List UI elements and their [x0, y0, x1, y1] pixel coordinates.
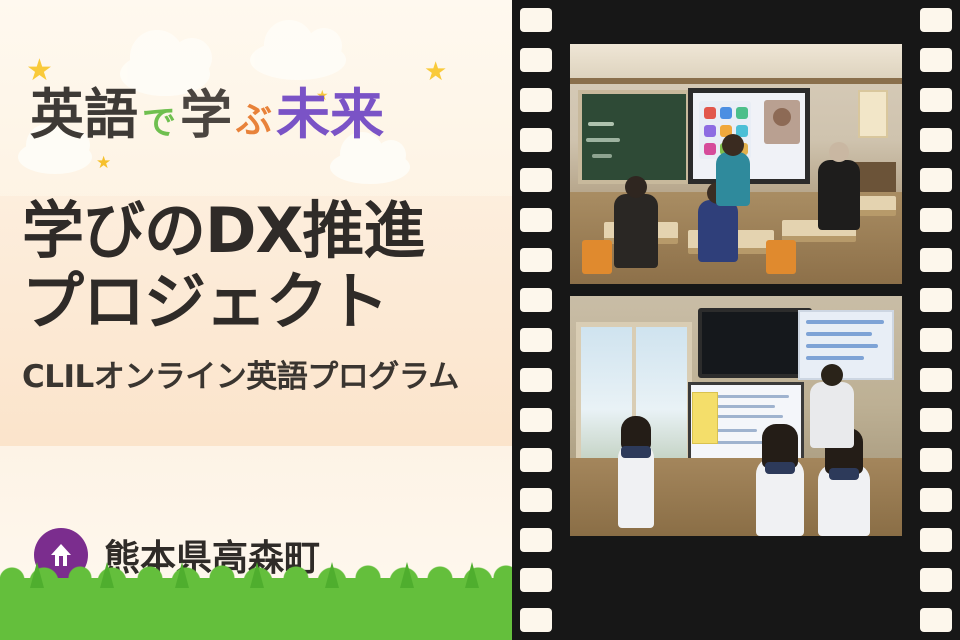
perforation — [520, 608, 552, 632]
grass-decoration — [0, 578, 512, 640]
page-title-line-1: 学びのDX推進 — [22, 196, 500, 267]
perforation — [520, 208, 552, 232]
photo1-ceiling — [570, 44, 902, 80]
perforation — [920, 608, 952, 632]
photo1-student-head — [625, 176, 647, 198]
photo1-student — [698, 200, 738, 262]
grass-blade-icon — [465, 562, 479, 588]
app-icon — [704, 125, 716, 137]
perforation — [920, 168, 952, 192]
perforation — [520, 328, 552, 352]
grass-blade-icon — [175, 562, 189, 588]
kicker-de: で — [142, 106, 176, 140]
perforation — [520, 128, 552, 152]
photo1-chalk-writing — [586, 138, 620, 142]
perforation — [920, 248, 952, 272]
photo1-beam — [570, 78, 902, 84]
photo1-chair — [766, 240, 796, 274]
perforation — [520, 8, 552, 32]
poster-text-line — [806, 332, 872, 336]
perforation — [520, 248, 552, 272]
grass-blade-icon — [400, 562, 414, 588]
perforation — [920, 8, 952, 32]
photo1-student-presenting — [716, 152, 750, 206]
perforation — [520, 368, 552, 392]
page-title-line-2: プロジェクト — [22, 267, 500, 338]
star-icon: ★ — [96, 154, 111, 171]
poster-text-line — [806, 320, 884, 324]
app-icon — [704, 107, 716, 119]
photo1-student — [614, 194, 658, 268]
photo1-wall-poster — [858, 90, 888, 138]
perforation — [920, 328, 952, 352]
photo1-student-head — [722, 134, 744, 156]
perforation — [920, 208, 952, 232]
poster-text-line — [806, 344, 878, 348]
perforation — [920, 408, 952, 432]
photo2-student — [756, 458, 804, 536]
kicker-headline: 英語 で 学 ぶ 未来 — [30, 88, 480, 142]
perforation — [920, 48, 952, 72]
cloud-icon — [250, 40, 346, 80]
perforation — [520, 168, 552, 192]
perforation — [520, 288, 552, 312]
perforation — [920, 528, 952, 552]
perforation — [920, 288, 952, 312]
photo2-student-collar — [765, 462, 795, 474]
poster-text-line — [806, 356, 864, 360]
photo2-wall-poster — [798, 310, 894, 380]
photo-elementary-class-online-english — [570, 44, 902, 284]
app-icon — [720, 107, 732, 119]
cloud-icon — [330, 150, 410, 184]
app-icon — [736, 107, 748, 119]
left-panel-background: ★ ★ ★ ★ 英語 で 学 ぶ 未来 学びのDX推進 プロジェクト CLILオ… — [0, 0, 512, 640]
perforation — [520, 448, 552, 472]
filmstrip-perforations-left — [516, 0, 556, 640]
filmstrip-perforations-right — [916, 0, 956, 640]
poster-canvas: ★ ★ ★ ★ 英語 で 学 ぶ 未来 学びのDX推進 プロジェクト CLILオ… — [0, 0, 960, 640]
photo1-chair — [582, 240, 612, 274]
photo2-yellow-handout — [692, 392, 718, 444]
title-block: 学びのDX推進 プロジェクト CLILオンライン英語プログラム — [22, 196, 500, 396]
app-icon — [704, 143, 716, 155]
kicker-eigo: 英語 — [30, 88, 138, 142]
grass-blade-icon — [325, 562, 339, 588]
photo2-student-collar — [621, 446, 651, 458]
kicker-bu: ぶ — [236, 103, 272, 139]
perforation — [920, 448, 952, 472]
star-icon: ★ — [424, 58, 447, 84]
photo2-teacher — [810, 382, 854, 448]
photo1-chalk-writing — [592, 154, 612, 158]
photo-junior-high-class-online-english — [570, 296, 902, 536]
filmstrip — [512, 0, 960, 640]
kicker-mana: 学 — [180, 90, 232, 142]
perforation — [920, 488, 952, 512]
perforation — [520, 568, 552, 592]
perforation — [920, 128, 952, 152]
photo2-student-head — [621, 416, 651, 450]
photo1-chalk-writing — [588, 122, 614, 126]
grass-blade-icon — [30, 562, 44, 588]
photo2-teacher-head — [821, 364, 843, 386]
kicker-mirai: 未来 — [276, 88, 384, 142]
grass-blade-icon — [100, 562, 114, 588]
perforation — [520, 48, 552, 72]
photo1-teacher-head — [829, 142, 849, 162]
perforation — [520, 408, 552, 432]
perforation — [920, 88, 952, 112]
photo2-student-collar — [829, 468, 859, 480]
photo1-remote-teacher-video — [764, 100, 800, 144]
photo1-teacher — [818, 160, 860, 230]
perforation — [920, 568, 952, 592]
perforation — [520, 88, 552, 112]
photo2-student — [818, 464, 870, 536]
page-subtitle: CLILオンライン英語プログラム — [22, 351, 500, 396]
photo1-blackboard — [578, 90, 690, 184]
perforation — [520, 528, 552, 552]
grass-blade-icon — [250, 562, 264, 588]
star-icon: ★ — [26, 56, 53, 86]
photo2-large-monitor — [698, 308, 812, 378]
perforation — [920, 368, 952, 392]
photo2-student — [618, 442, 654, 528]
perforation — [520, 488, 552, 512]
